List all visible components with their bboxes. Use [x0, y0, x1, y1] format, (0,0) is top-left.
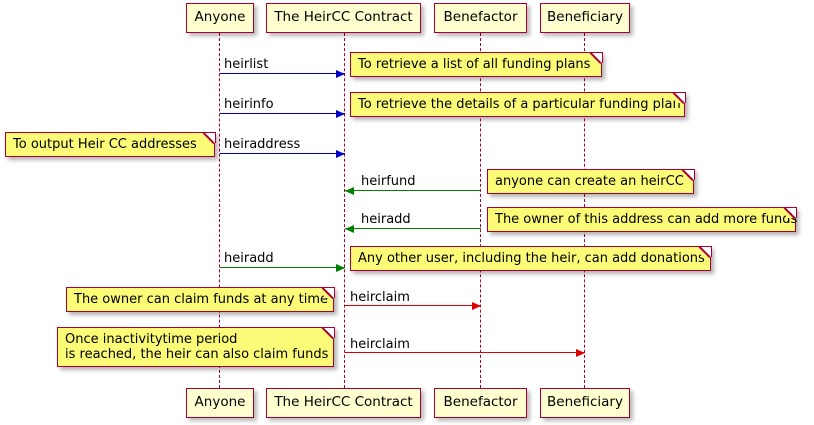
- message-label-m1: heirlist: [224, 58, 268, 71]
- note-n6: Any other user, including the heir, can …: [350, 246, 711, 271]
- note-n2: To retrieve the details of a particular …: [350, 92, 685, 117]
- note-n5: The owner of this address can add more f…: [487, 207, 796, 232]
- note-fold-corner-icon: [786, 207, 797, 218]
- sequence-diagram-canvas: AnyoneThe HeirCC ContractBenefactorBenef…: [0, 0, 814, 425]
- participant-label: Beneficiary: [547, 396, 623, 410]
- participant-bottom-anyone[interactable]: Anyone: [186, 388, 254, 418]
- message-line-m5: [345, 228, 481, 229]
- note-n8: Once inactivitytime period is reached, t…: [57, 327, 334, 367]
- note-text: anyone can create an heirCC: [495, 174, 684, 189]
- note-text: Any other user, including the heir, can …: [358, 251, 705, 266]
- message-line-m3: [220, 153, 345, 154]
- note-n4: anyone can create an heirCC: [487, 169, 694, 194]
- note-fold-corner-icon: [324, 327, 335, 338]
- message-label-m8: heirclaim: [350, 338, 410, 351]
- participant-bottom-beneficiary[interactable]: Beneficiary: [540, 388, 630, 418]
- participant-label: Anyone: [195, 11, 246, 25]
- participant-label: Benefactor: [444, 396, 518, 410]
- arrowhead-m7: [472, 302, 481, 310]
- message-label-m7: heirclaim: [350, 291, 410, 304]
- message-line-m6: [220, 267, 345, 268]
- participant-label: Anyone: [195, 396, 246, 410]
- note-fold-corner-icon: [205, 132, 216, 143]
- message-line-m1: [220, 73, 345, 74]
- arrowhead-m6: [336, 264, 345, 272]
- note-fold-corner-icon: [675, 92, 686, 103]
- message-label-m2: heirinfo: [224, 98, 274, 111]
- participant-label: The HeirCC Contract: [274, 396, 412, 410]
- note-fold-corner-icon: [684, 169, 695, 180]
- message-line-m4: [345, 190, 481, 191]
- message-label-m5: heiradd: [361, 213, 411, 226]
- arrowhead-m2: [336, 110, 345, 118]
- note-text: The owner of this address can add more f…: [495, 212, 797, 227]
- note-fold-corner-icon: [701, 246, 712, 257]
- arrowhead-m1: [336, 70, 345, 78]
- note-n7: The owner can claim funds at any time: [66, 287, 334, 312]
- note-n3: To output Heir CC addresses: [5, 132, 215, 157]
- message-label-m6: heiradd: [224, 252, 274, 265]
- participant-label: The HeirCC Contract: [274, 11, 412, 25]
- message-label-m4: heirfund: [361, 175, 416, 188]
- note-text: The owner can claim funds at any time: [74, 292, 328, 307]
- note-text: To retrieve the details of a particular …: [358, 97, 681, 112]
- participant-top-benefactor[interactable]: Benefactor: [434, 3, 527, 33]
- message-line-m8: [345, 352, 585, 353]
- note-text: To retrieve a list of all funding plans: [358, 57, 590, 72]
- lifeline-benefactor: [480, 33, 481, 388]
- message-line-m2: [220, 113, 345, 114]
- note-n1: To retrieve a list of all funding plans: [350, 52, 602, 77]
- participant-top-anyone[interactable]: Anyone: [186, 3, 254, 33]
- message-label-m3: heiraddress: [224, 138, 300, 151]
- arrowhead-m4: [345, 187, 354, 195]
- arrowhead-m5: [345, 225, 354, 233]
- note-text: To output Heir CC addresses: [13, 137, 197, 152]
- participant-top-beneficiary[interactable]: Beneficiary: [540, 3, 630, 33]
- note-fold-corner-icon: [324, 287, 335, 298]
- participant-bottom-benefactor[interactable]: Benefactor: [434, 388, 527, 418]
- participant-bottom-contract[interactable]: The HeirCC Contract: [266, 388, 421, 418]
- arrowhead-m3: [336, 150, 345, 158]
- participant-label: Benefactor: [444, 11, 518, 25]
- arrowhead-m8: [576, 349, 585, 357]
- participant-top-contract[interactable]: The HeirCC Contract: [266, 3, 421, 33]
- message-line-m7: [345, 305, 481, 306]
- lifeline-contract: [344, 33, 345, 388]
- note-text: Once inactivitytime period is reached, t…: [65, 332, 328, 362]
- participant-label: Beneficiary: [547, 11, 623, 25]
- note-fold-corner-icon: [592, 52, 603, 63]
